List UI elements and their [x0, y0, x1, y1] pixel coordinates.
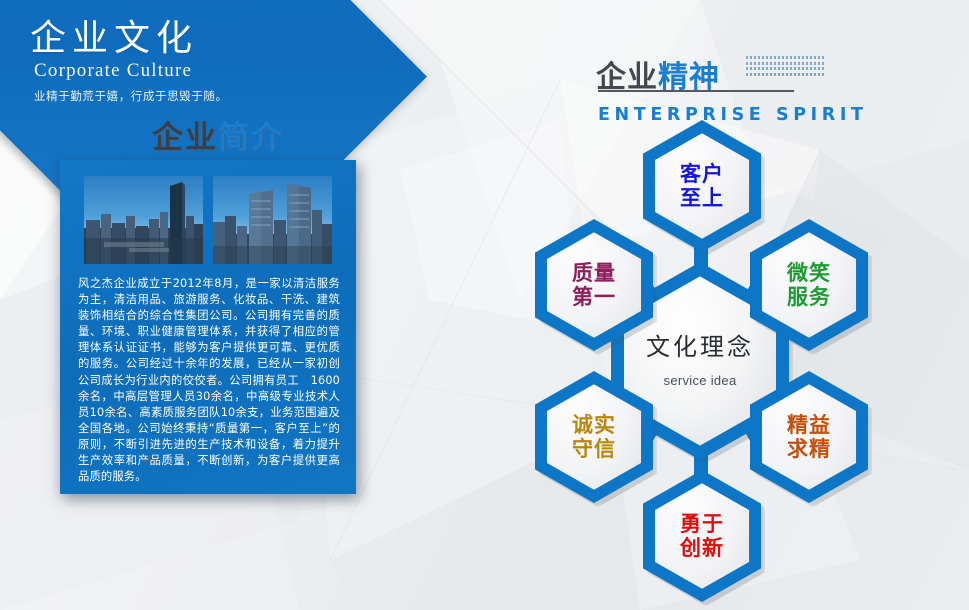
hex-4-line1: 诚实	[572, 413, 616, 437]
cityscape-photo-right	[213, 176, 332, 264]
spirit-underline	[598, 90, 794, 92]
hex-3-line2: 创新	[680, 536, 724, 560]
banner-motto: 业精于勤荒于嬉，行成于思毁于随。	[34, 88, 360, 104]
hex-0-line2: 至上	[680, 186, 724, 210]
culture-hexagon-cluster: 文化理念 service idea 客户 至上 微笑 服务	[490, 118, 969, 610]
hex-4-line2: 守信	[572, 437, 616, 461]
hex-smile-service[interactable]: 微笑 服务	[750, 219, 868, 351]
hex-innovation[interactable]: 勇于 创新	[643, 470, 761, 602]
intro-body-text: 风之杰企业成立于2012年8月，是一家以清洁服务为主，清洁用品、旅游服务、化妆品…	[78, 276, 340, 485]
hex-quality-first[interactable]: 质量 第一	[535, 219, 653, 351]
hex-1-line1: 微笑	[787, 261, 831, 285]
spirit-title-en: ENTERPRISE SPIRIT	[598, 105, 896, 125]
hex-2-line1: 精益	[787, 413, 831, 437]
spirit-heading: 企业精神 ENTERPRISE SPIRIT	[596, 52, 896, 125]
poster-canvas: 企业文化 Corporate Culture 业精于勤荒于嬉，行成于思毁于随。 …	[0, 0, 969, 610]
hex-1-label: 微笑 服务	[750, 219, 868, 351]
intro-heading-dark: 企业	[152, 120, 218, 156]
hex-3-line1: 勇于	[680, 512, 724, 536]
hex-5-line1: 质量	[572, 261, 616, 285]
hex-3-label: 勇于 创新	[643, 470, 761, 602]
hex-customer-first[interactable]: 客户 至上	[643, 120, 761, 252]
intro-heading-blue: 简介	[218, 120, 284, 156]
intro-heading: 企业简介	[152, 112, 284, 157]
cityscape-photo-left	[84, 176, 203, 264]
hex-excellence[interactable]: 精益 求精	[750, 371, 868, 503]
hex-0-label: 客户 至上	[643, 120, 761, 252]
hex-4-label: 诚实 守信	[535, 371, 653, 503]
intro-card: 风之杰企业成立于2012年8月，是一家以清洁服务为主，清洁用品、旅游服务、化妆品…	[60, 160, 356, 494]
banner-text-block: 企业文化 Corporate Culture 业精于勤荒于嬉，行成于思毁于随。	[30, 18, 360, 104]
hex-1-line2: 服务	[787, 285, 831, 309]
hex-center-title-en: service idea	[664, 373, 737, 388]
hex-0-line1: 客户	[680, 162, 724, 186]
intro-photo-strip	[84, 176, 332, 264]
hex-2-label: 精益 求精	[750, 371, 868, 503]
hex-5-line2: 第一	[572, 285, 616, 309]
hex-5-label: 质量 第一	[535, 219, 653, 351]
hex-2-line2: 求精	[787, 437, 831, 461]
hex-integrity[interactable]: 诚实 守信	[535, 371, 653, 503]
hex-center-title-cn: 文化理念	[646, 334, 754, 362]
banner-title-en: Corporate Culture	[34, 60, 360, 82]
decorative-microtext	[746, 56, 826, 78]
banner-title-cn: 企业文化	[30, 18, 360, 59]
